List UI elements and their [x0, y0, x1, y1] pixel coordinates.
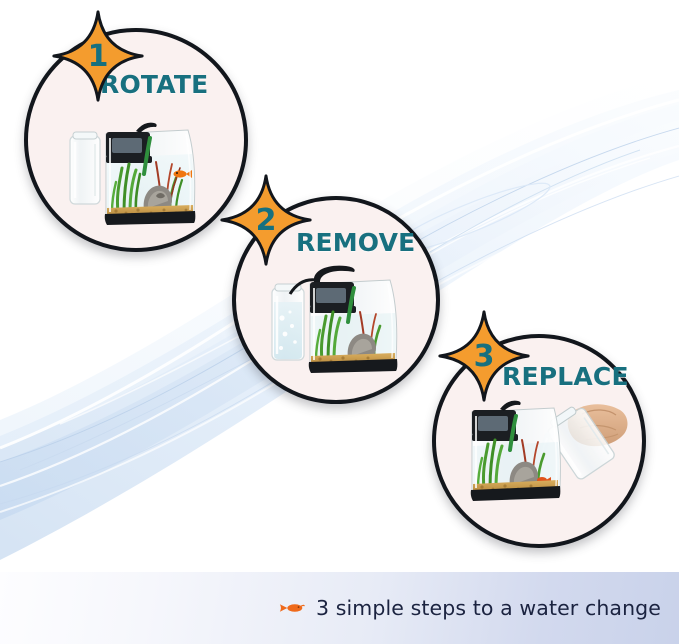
fish-icon: [278, 601, 306, 615]
step-card-3: REPLACE 3: [432, 334, 646, 548]
infographic-canvas: ROTATE 1: [0, 0, 679, 644]
step-2-number: 2: [220, 174, 312, 266]
step-1-number: 1: [52, 10, 144, 102]
step-card-2: REMOVE 2: [232, 196, 440, 404]
empty-jar: [70, 132, 100, 204]
footer-inner: 3 simple steps to a water change: [278, 596, 679, 620]
step-3-illustration: [454, 384, 632, 514]
step-2-label: REMOVE: [296, 228, 415, 257]
filled-jar: [272, 284, 304, 360]
step-1-illustration: [66, 112, 206, 227]
step-3-number: 3: [438, 310, 530, 402]
footer-caption-text: 3 simple steps to a water change: [316, 596, 661, 620]
step-card-1: ROTATE 1: [24, 28, 248, 252]
aquarium-tank: [471, 401, 561, 501]
aquarium-tank: [290, 266, 397, 373]
footer-caption-bar: 3 simple steps to a water change: [0, 572, 679, 644]
aquarium-tank: [105, 123, 196, 225]
step-2-illustration: [268, 258, 404, 376]
